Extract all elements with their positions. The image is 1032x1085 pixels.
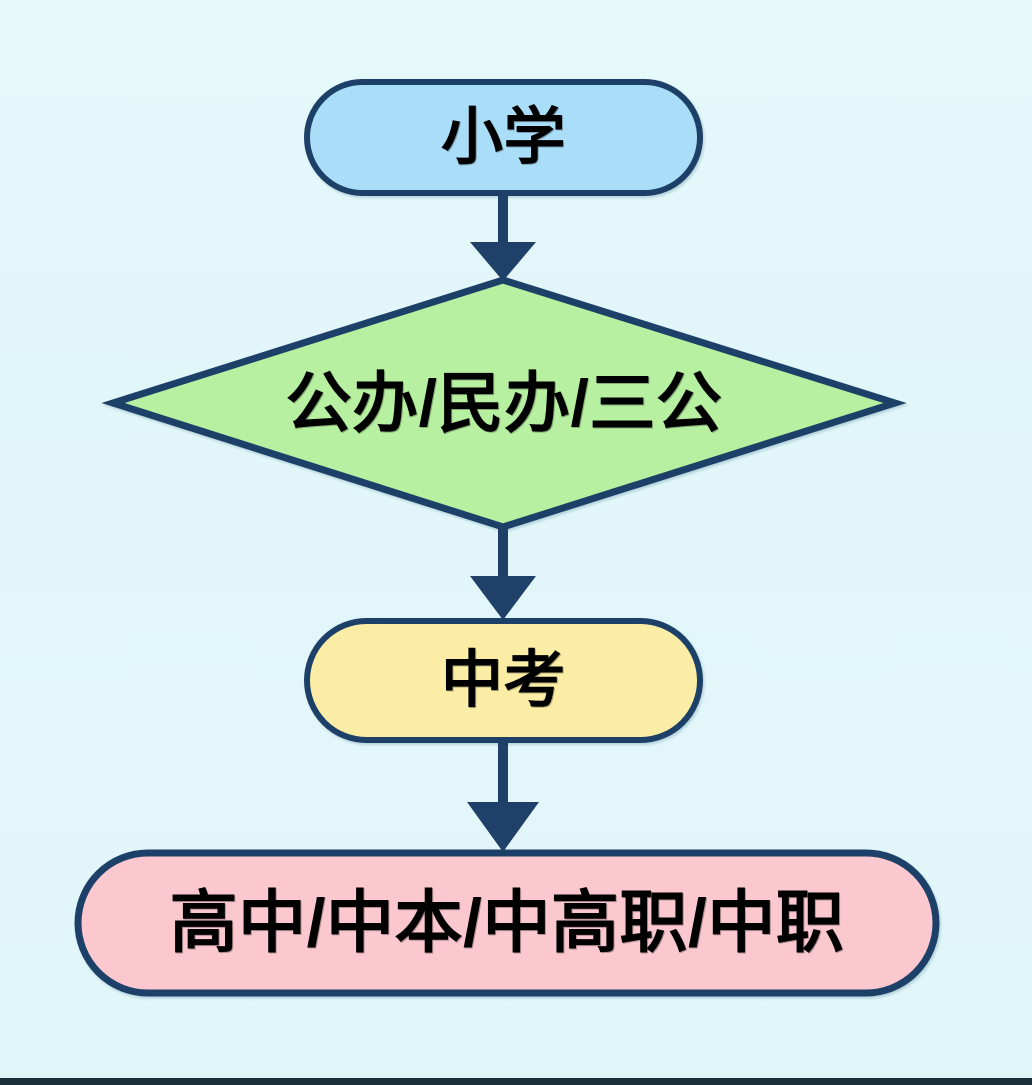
edge-decision-exam-arrowhead (470, 576, 536, 620)
edge-exam-outcomes-arrowhead (467, 802, 539, 852)
node-primary-shape[interactable] (307, 82, 700, 193)
edge-primary-decision (470, 193, 536, 281)
edge-primary-decision-arrowhead (470, 242, 536, 281)
flowchart-canvas: 小学 公办/民办/三公 中考 高中/中本/中高职/中职 (0, 0, 1032, 1085)
bottom-edge-strip (0, 1078, 1032, 1085)
edge-exam-outcomes (467, 740, 539, 852)
flowchart-shapes (0, 0, 1032, 1085)
edge-decision-exam (470, 527, 536, 620)
node-decision-shape[interactable] (113, 280, 895, 527)
node-outcomes-shape[interactable] (78, 853, 936, 993)
node-exam-shape[interactable] (307, 621, 700, 740)
